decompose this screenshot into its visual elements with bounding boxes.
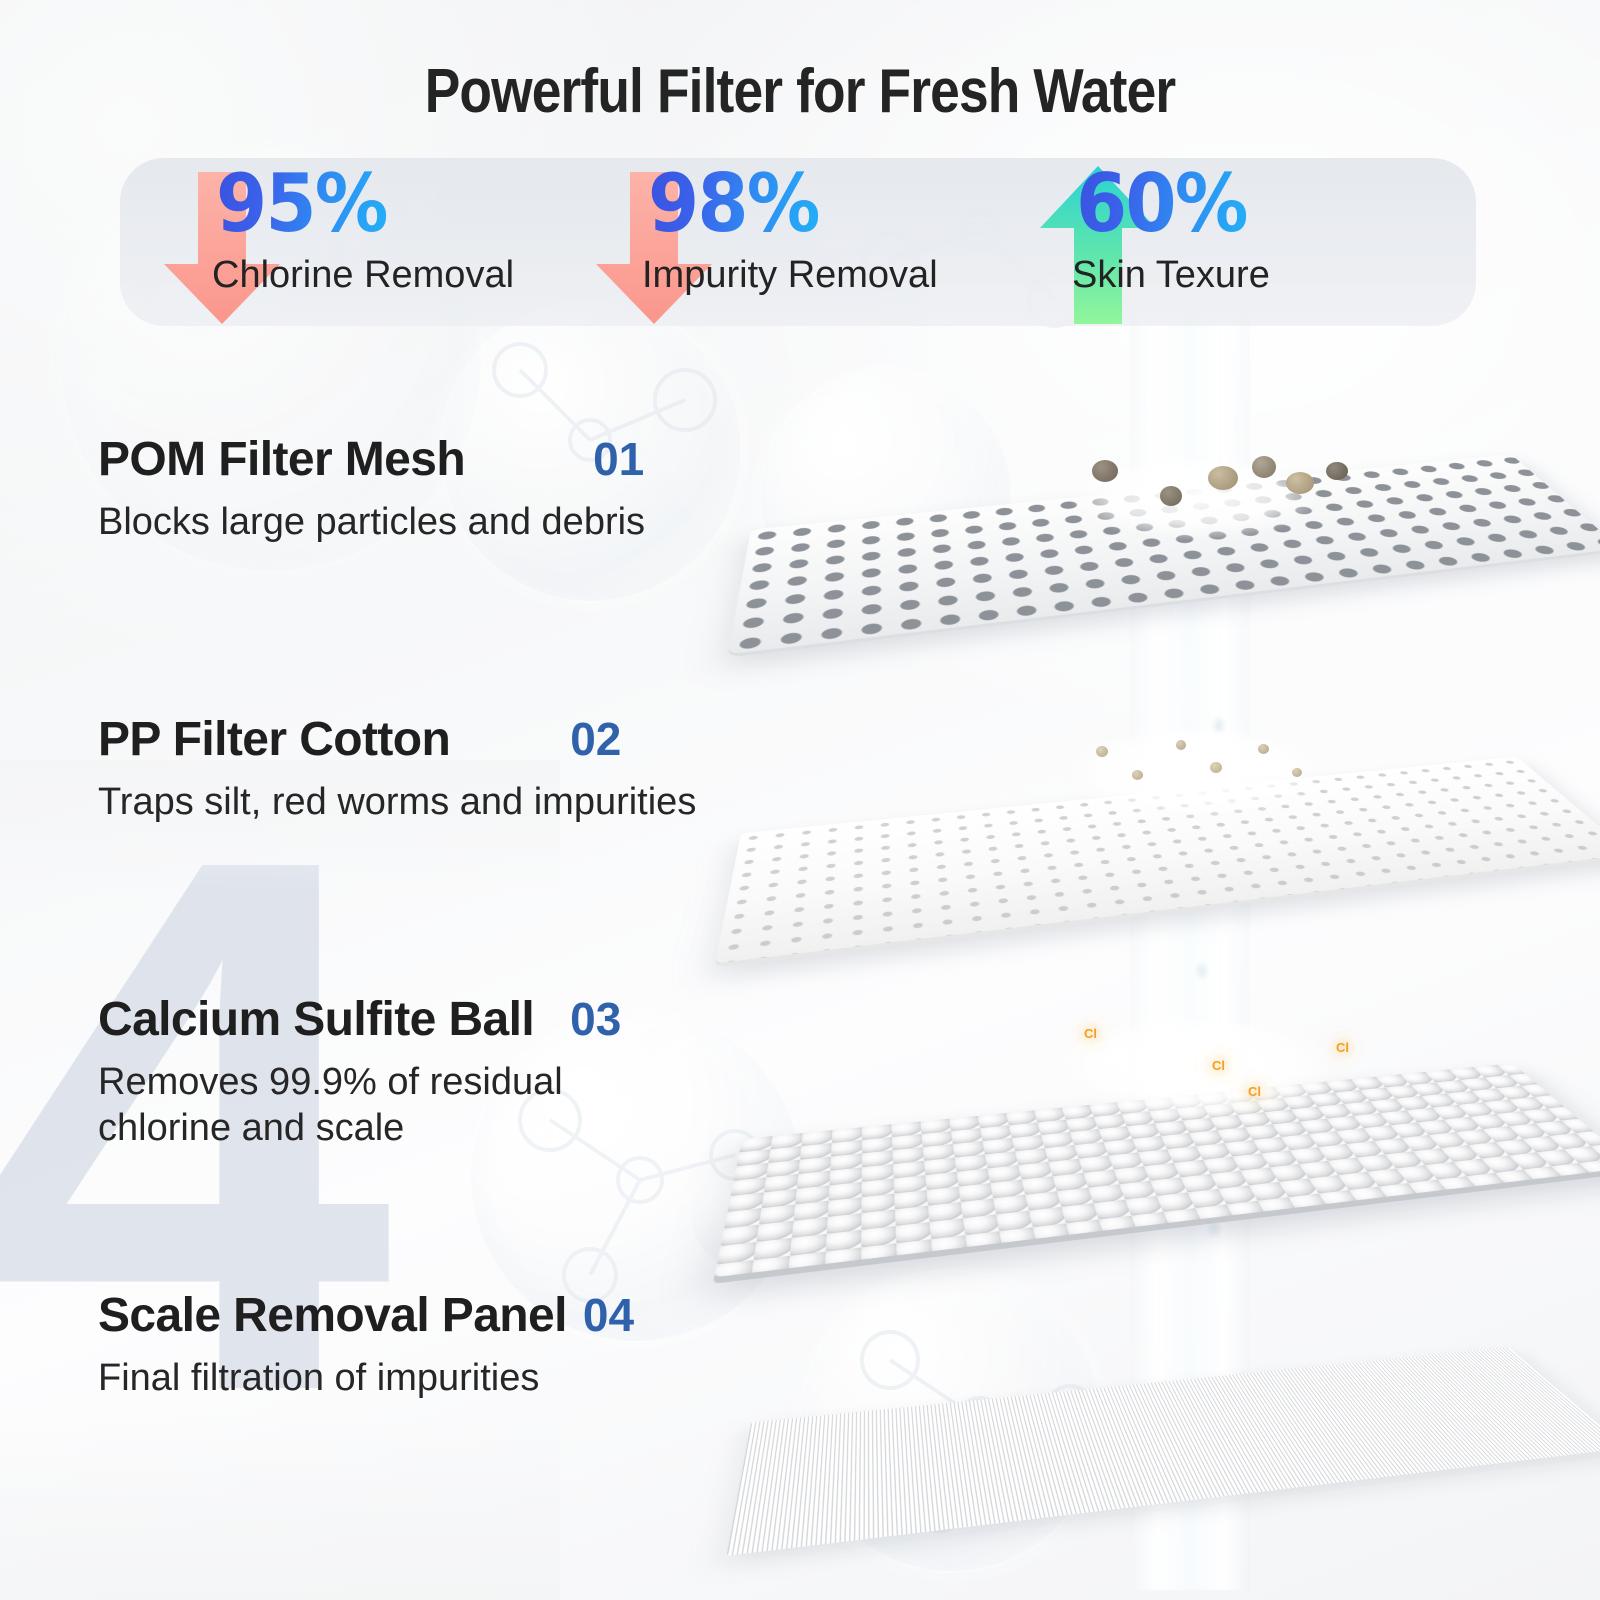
feature-heading: Scale Removal Panel 04: [98, 1288, 634, 1343]
debris-particle: [1286, 472, 1314, 494]
chlorine-marker: Cl: [1248, 1084, 1261, 1099]
feature-number: 02: [570, 712, 621, 766]
chlorine-marker: Cl: [1336, 1040, 1349, 1055]
feature-heading: PP Filter Cotton 02: [98, 712, 696, 767]
feature-number: 03: [570, 992, 621, 1046]
stat-skin-texure: 60% Skin Texure: [1024, 158, 1476, 326]
feature-item-pp-filter-cotton: PP Filter Cotton 02 Traps silt, red worm…: [98, 712, 696, 825]
debris-particle: [1210, 762, 1222, 773]
stat-label: Skin Texure: [1072, 254, 1270, 297]
feature-number: 04: [583, 1288, 634, 1342]
feature-description: Removes 99.9% of residual chlorine and s…: [98, 1059, 621, 1152]
feature-title: POM Filter Mesh: [98, 432, 465, 487]
feature-item-calcium-sulfite-ball: Calcium Sulfite Ball 03 Removes 99.9% of…: [98, 992, 621, 1152]
feature-title: Scale Removal Panel: [98, 1288, 567, 1343]
feature-item-pom-filter-mesh: POM Filter Mesh 01 Blocks large particle…: [98, 432, 645, 545]
feature-heading: Calcium Sulfite Ball 03: [98, 992, 621, 1047]
debris-particle: [1160, 486, 1182, 506]
feature-description-line2: chlorine and scale: [98, 1105, 621, 1151]
water-splash: [1060, 730, 1330, 820]
debris-particle: [1092, 460, 1118, 482]
stat-label: Impurity Removal: [642, 254, 938, 297]
page-title: Powerful Filter for Fresh Water: [112, 56, 1488, 127]
stat-value: 95%: [216, 164, 387, 244]
infographic-canvas: 4: [0, 0, 1600, 1600]
feature-title: PP Filter Cotton: [98, 712, 450, 767]
debris-particle: [1132, 770, 1143, 780]
chlorine-marker: Cl: [1084, 1026, 1097, 1041]
feature-heading: POM Filter Mesh 01: [98, 432, 645, 487]
feature-description: Blocks large particles and debris: [98, 499, 645, 545]
debris-particle: [1096, 746, 1108, 757]
stat-chlorine-removal: 95% Chlorine Removal: [120, 158, 572, 326]
debris-particle: [1208, 466, 1238, 490]
stat-impurity-removal: 98% Impurity Removal: [572, 158, 1024, 326]
debris-particle: [1326, 462, 1348, 480]
feature-title: Calcium Sulfite Ball: [98, 992, 534, 1047]
feature-description-line1: Removes 99.9% of residual: [98, 1059, 621, 1105]
watermark-fade: [0, 760, 560, 1600]
feature-description: Final filtration of impurities: [98, 1355, 634, 1401]
stats-panel: 95% Chlorine Removal 98% Impurity Remova…: [120, 158, 1476, 326]
stat-label: Chlorine Removal: [212, 254, 514, 297]
chlorine-marker: Cl: [1212, 1058, 1225, 1073]
debris-particle: [1252, 456, 1276, 478]
feature-number: 01: [593, 432, 644, 486]
feature-item-scale-removal-panel: Scale Removal Panel 04 Final filtration …: [98, 1288, 634, 1401]
stat-value: 98%: [648, 164, 819, 244]
debris-particle: [1176, 740, 1186, 750]
stat-value: 60%: [1076, 164, 1247, 244]
debris-particle: [1258, 744, 1269, 754]
product-illustration: Cl Cl Cl Cl: [740, 300, 1600, 1600]
debris-particle: [1292, 768, 1302, 777]
feature-description: Traps silt, red worms and impurities: [98, 779, 696, 825]
